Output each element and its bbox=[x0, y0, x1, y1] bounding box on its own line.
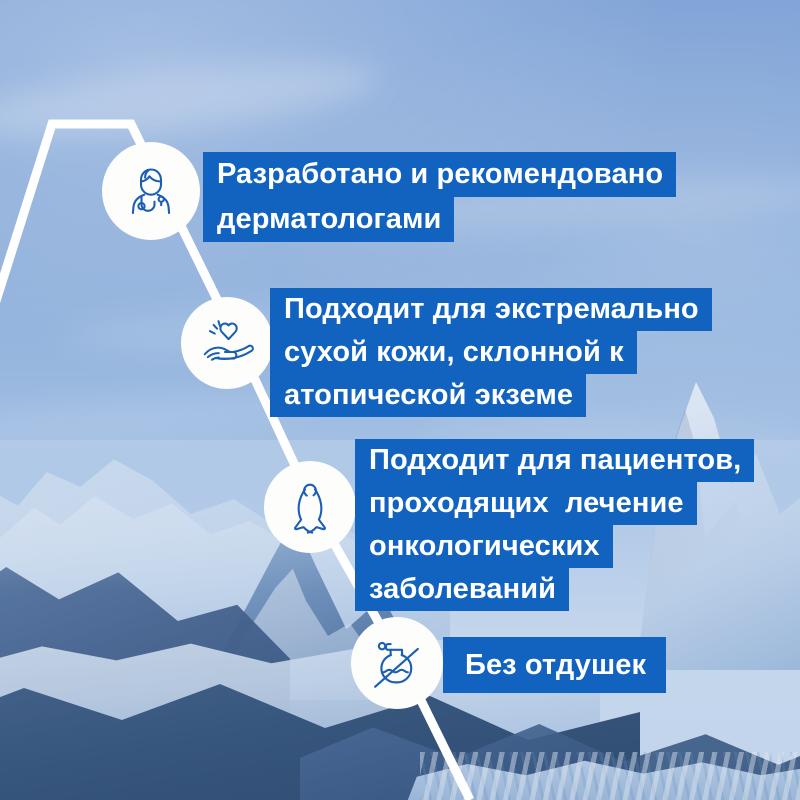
feature-dry-skin: Подходит для экстремально сухой кожи, ск… bbox=[270, 288, 712, 417]
awareness-ribbon-icon-bubble bbox=[264, 461, 356, 553]
feature-text-line: дерматологами bbox=[203, 197, 454, 242]
hand-heart-icon bbox=[196, 312, 258, 374]
doctor-icon-bubble bbox=[102, 142, 200, 240]
feature-oncology: Подходит для пациентов, проходящих лечен… bbox=[355, 439, 754, 611]
feature-text-line: проходящих лечение bbox=[355, 482, 697, 525]
doctor-icon bbox=[119, 159, 183, 223]
hand-heart-icon-bubble bbox=[181, 297, 273, 389]
no-fragrance-icon-bubble bbox=[351, 617, 443, 709]
feature-text-line: атопической экземе bbox=[270, 374, 586, 417]
feature-text-line: заболеваний bbox=[355, 568, 569, 611]
no-fragrance-icon bbox=[366, 632, 428, 694]
feature-text-line: Подходит для экстремально bbox=[270, 288, 712, 331]
glacier-texture bbox=[420, 752, 800, 800]
feature-dermatologist: Разработано и рекомендовано дерматологам… bbox=[203, 152, 676, 242]
feature-fragrance-free: Без отдушек bbox=[443, 637, 666, 693]
awareness-ribbon-icon bbox=[281, 478, 339, 536]
feature-text-line: сухой кожи, склонной к bbox=[270, 331, 637, 374]
feature-text-line: Подходит для пациентов, bbox=[355, 439, 754, 482]
feature-text-line: Разработано и рекомендовано bbox=[203, 152, 676, 197]
feature-text-line: Без отдушек bbox=[443, 637, 666, 693]
feature-text-line: онкологических bbox=[355, 525, 613, 568]
infographic-canvas: Разработано и рекомендовано дерматологам… bbox=[0, 0, 800, 800]
